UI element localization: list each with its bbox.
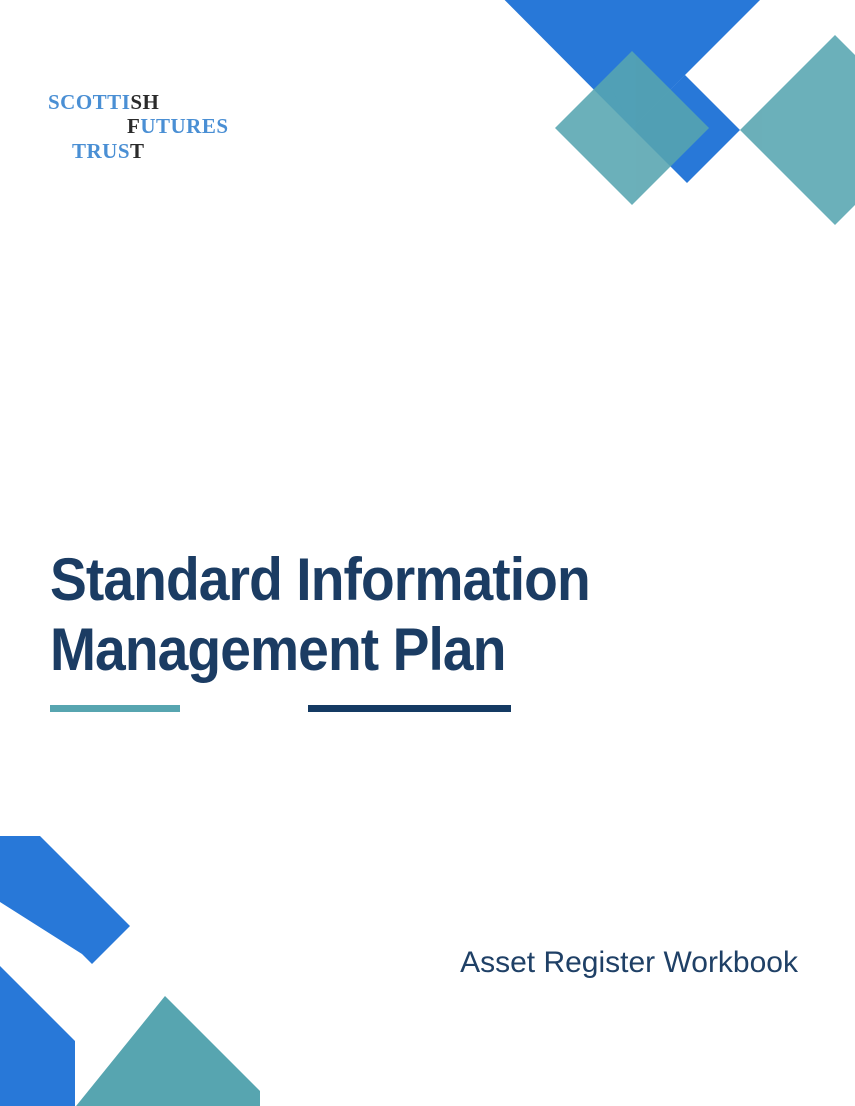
logo-text-futures-accent: F: [127, 114, 140, 138]
scottish-futures-trust-logo: SCOTTISH FUTURES TRUST: [48, 88, 278, 178]
logo-text-futures-main: UTURES: [140, 114, 228, 138]
logo-line-futures: FUTURES: [127, 116, 229, 137]
document-cover-page: SCOTTISH FUTURES TRUST Standard Informat…: [0, 0, 855, 1106]
logo-text-scottish-accent: SH: [130, 90, 159, 114]
blue-chevron-band: [435, 0, 775, 183]
accent-rules: [50, 705, 610, 715]
page-subtitle: Asset Register Workbook: [460, 945, 798, 981]
diamond-chevron-graphic-bottom-left: [0, 836, 260, 1106]
logo-line-scottish: SCOTTISH: [48, 92, 159, 113]
logo-text-scottish-main: SCOTTI: [48, 90, 130, 114]
accent-rule-navy: [308, 705, 511, 712]
logo-line-trust: TRUST: [72, 141, 145, 162]
logo-text-trust-accent: T: [130, 139, 145, 163]
blue-diagonal-bands: [0, 836, 130, 1106]
diamond-chevron-graphic-top-right: [435, 0, 855, 230]
page-title: Standard Information Management Plan: [50, 545, 694, 685]
teal-diamond: [68, 996, 260, 1106]
logo-text-trust-main: TRUS: [72, 139, 130, 163]
teal-diamonds: [555, 35, 855, 225]
title-block: Standard Information Management Plan: [50, 545, 750, 685]
accent-rule-teal: [50, 705, 180, 712]
